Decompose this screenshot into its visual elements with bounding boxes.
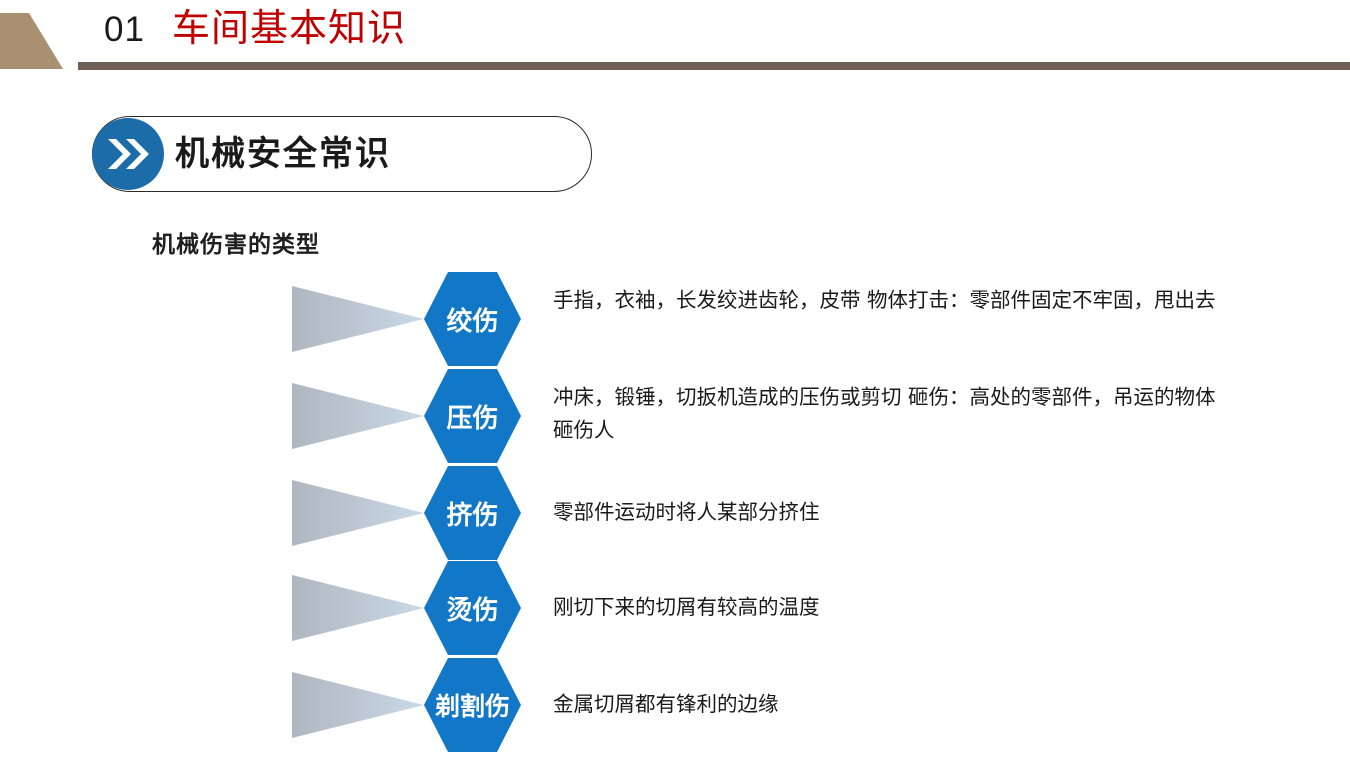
injury-type-hexagon[interactable]: 绞伤: [424, 272, 521, 366]
header-corner-shape: [0, 13, 64, 69]
list-item: 烫伤 刚切下来的切屑有较高的温度: [0, 561, 1350, 657]
double-chevron-right-icon: [92, 118, 164, 190]
header-divider: [78, 62, 1350, 70]
list-item: 绞伤 手指，衣袖，长发绞进齿轮，皮带 物体打击：零部件固定不牢固，甩出去: [0, 272, 1350, 368]
section-title: 机械安全常识: [175, 126, 391, 182]
injury-type-label: 剃割伤: [424, 658, 521, 752]
list-item: 压伤 冲床，锻锤，切扳机造成的压伤或剪切 砸伤：高处的零部件，吊运的物体砸伤人: [0, 369, 1350, 465]
header-section-number: 01: [104, 8, 145, 52]
injury-type-label: 烫伤: [424, 561, 521, 655]
injury-type-label: 绞伤: [424, 272, 521, 366]
injury-type-hexagon[interactable]: 压伤: [424, 369, 521, 463]
injury-type-description: 刚切下来的切屑有较高的温度: [553, 591, 1225, 624]
injury-type-hexagon[interactable]: 挤伤: [424, 466, 521, 560]
slide-canvas: 01 车间基本知识 机械安全常识 机械伤害的类型: [0, 0, 1350, 759]
injury-type-hexagon[interactable]: 剃割伤: [424, 658, 521, 752]
injury-type-label: 挤伤: [424, 466, 521, 560]
arrow-triangle-icon: [292, 575, 424, 641]
injury-type-description: 冲床，锻锤，切扳机造成的压伤或剪切 砸伤：高处的零部件，吊运的物体砸伤人: [553, 381, 1225, 447]
arrow-triangle-icon: [292, 383, 424, 449]
injury-type-description: 金属切屑都有锋利的边缘: [553, 688, 1225, 721]
injury-type-description: 手指，衣袖，长发绞进齿轮，皮带 物体打击：零部件固定不牢固，甩出去: [553, 284, 1225, 317]
content-subheading: 机械伤害的类型: [152, 225, 320, 259]
list-item: 挤伤 零部件运动时将人某部分挤住: [0, 466, 1350, 562]
arrow-triangle-icon: [292, 672, 424, 738]
arrow-triangle-icon: [292, 286, 424, 352]
injury-type-hexagon[interactable]: 烫伤: [424, 561, 521, 655]
page-title: 车间基本知识: [172, 5, 406, 51]
list-item: 剃割伤 金属切屑都有锋利的边缘: [0, 658, 1350, 754]
injury-type-label: 压伤: [424, 369, 521, 463]
arrow-triangle-icon: [292, 480, 424, 546]
injury-type-description: 零部件运动时将人某部分挤住: [553, 496, 1225, 529]
